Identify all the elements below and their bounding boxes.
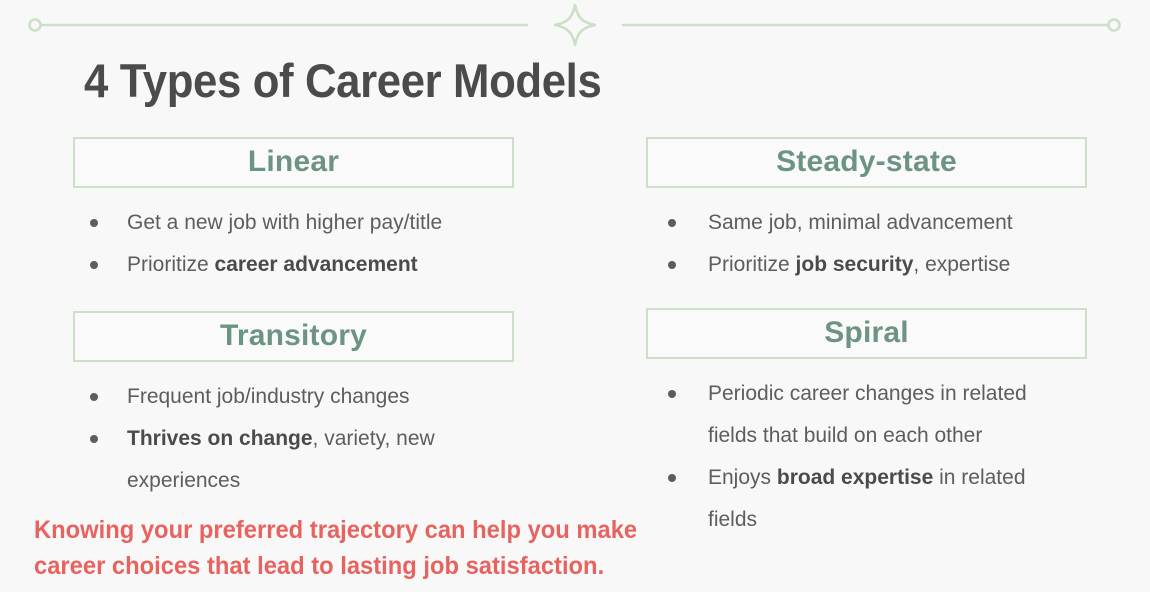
four-point-star-sparkle-icon <box>555 5 595 45</box>
list-item: Frequent job/industry changes <box>73 376 514 418</box>
model-card-steady-state: Steady-state Same job, minimal advanceme… <box>646 137 1087 286</box>
bullet-dot-icon <box>90 393 98 401</box>
list-item-line: Prioritize job security, expertise <box>646 244 1087 286</box>
model-title-spiral: Spiral <box>646 308 1087 359</box>
footer-line-2: career choices that lead to lasting job … <box>34 548 756 584</box>
list-item-line: Periodic career changes in related <box>646 373 1087 415</box>
text-plain: fields that build on each other <box>708 424 982 447</box>
text-plain: Prioritize <box>127 253 215 276</box>
list-item: Thrives on change, variety, new experien… <box>73 418 514 502</box>
footer-line-1: Knowing your preferred trajectory can he… <box>34 512 756 548</box>
text-plain: Enjoys <box>708 466 777 489</box>
bullet-dot-icon <box>668 219 676 227</box>
spacer <box>73 362 514 376</box>
model-bullets-transitory: Frequent job/industry changes Thrives on… <box>73 376 514 502</box>
list-item: Prioritize job security, expertise <box>646 244 1087 286</box>
divider-right-endpoint-icon <box>1109 20 1120 31</box>
text-plain: Periodic career changes in related <box>708 382 1027 405</box>
divider-graphic <box>0 0 1150 52</box>
text-emphasis: career advancement <box>215 253 418 276</box>
list-item-line: Enjoys broad expertise in related <box>646 457 1087 499</box>
model-title-steady-state: Steady-state <box>646 137 1087 188</box>
list-item-line: Get a new job with higher pay/title <box>73 202 514 244</box>
text-plain: , variety, new <box>313 427 435 450</box>
footer-takeaway-note: Knowing your preferred trajectory can he… <box>34 512 756 584</box>
list-item-line: Thrives on change, variety, new <box>73 418 514 460</box>
model-bullets-steady-state: Same job, minimal advancement Prioritize… <box>646 202 1087 286</box>
spacer <box>646 188 1087 202</box>
list-item-line: Prioritize career advancement <box>73 244 514 286</box>
model-card-linear: Linear Get a new job with higher pay/tit… <box>73 137 514 286</box>
model-title-transitory: Transitory <box>73 311 514 362</box>
models-column-right: Steady-state Same job, minimal advanceme… <box>646 137 1087 541</box>
list-item-line: Same job, minimal advancement <box>646 202 1087 244</box>
text-plain: Get a new job with higher pay/title <box>127 211 442 234</box>
list-item-line-cont: experiences <box>73 460 514 502</box>
bullet-dot-icon <box>90 261 98 269</box>
model-title-linear: Linear <box>73 137 514 188</box>
divider-left-endpoint-icon <box>30 20 41 31</box>
model-card-spiral: Spiral Periodic career changes in relate… <box>646 308 1087 541</box>
text-plain: in related <box>933 466 1025 489</box>
bullet-dot-icon <box>668 474 676 482</box>
list-item-line-cont: fields that build on each other <box>646 415 1087 457</box>
list-item: Prioritize career advancement <box>73 244 514 286</box>
text-plain: , expertise <box>913 253 1010 276</box>
bullet-dot-icon <box>90 435 98 443</box>
text-emphasis: broad expertise <box>777 466 933 489</box>
page-title: 4 Types of Career Models <box>84 50 601 112</box>
slide-canvas: 4 Types of Career Models Linear Get a ne… <box>0 0 1150 592</box>
model-card-transitory: Transitory Frequent job/industry changes… <box>73 311 514 502</box>
list-item: Periodic career changes in related field… <box>646 373 1087 457</box>
list-item-line: Frequent job/industry changes <box>73 376 514 418</box>
bullet-dot-icon <box>668 261 676 269</box>
spacer <box>73 286 514 311</box>
bullet-dot-icon <box>90 219 98 227</box>
models-column-left: Linear Get a new job with higher pay/tit… <box>73 137 514 502</box>
text-emphasis: Thrives on change <box>127 427 313 450</box>
spacer <box>646 286 1087 308</box>
spacer <box>646 359 1087 373</box>
decorative-divider <box>0 0 1150 52</box>
text-plain: Same job, minimal advancement <box>708 211 1013 234</box>
bullet-dot-icon <box>668 390 676 398</box>
text-emphasis: job security <box>796 253 914 276</box>
list-item: Get a new job with higher pay/title <box>73 202 514 244</box>
text-plain: experiences <box>127 469 240 492</box>
list-item: Same job, minimal advancement <box>646 202 1087 244</box>
text-plain: Prioritize <box>708 253 796 276</box>
model-bullets-linear: Get a new job with higher pay/title Prio… <box>73 202 514 286</box>
spacer <box>73 188 514 202</box>
text-plain: Frequent job/industry changes <box>127 385 410 408</box>
